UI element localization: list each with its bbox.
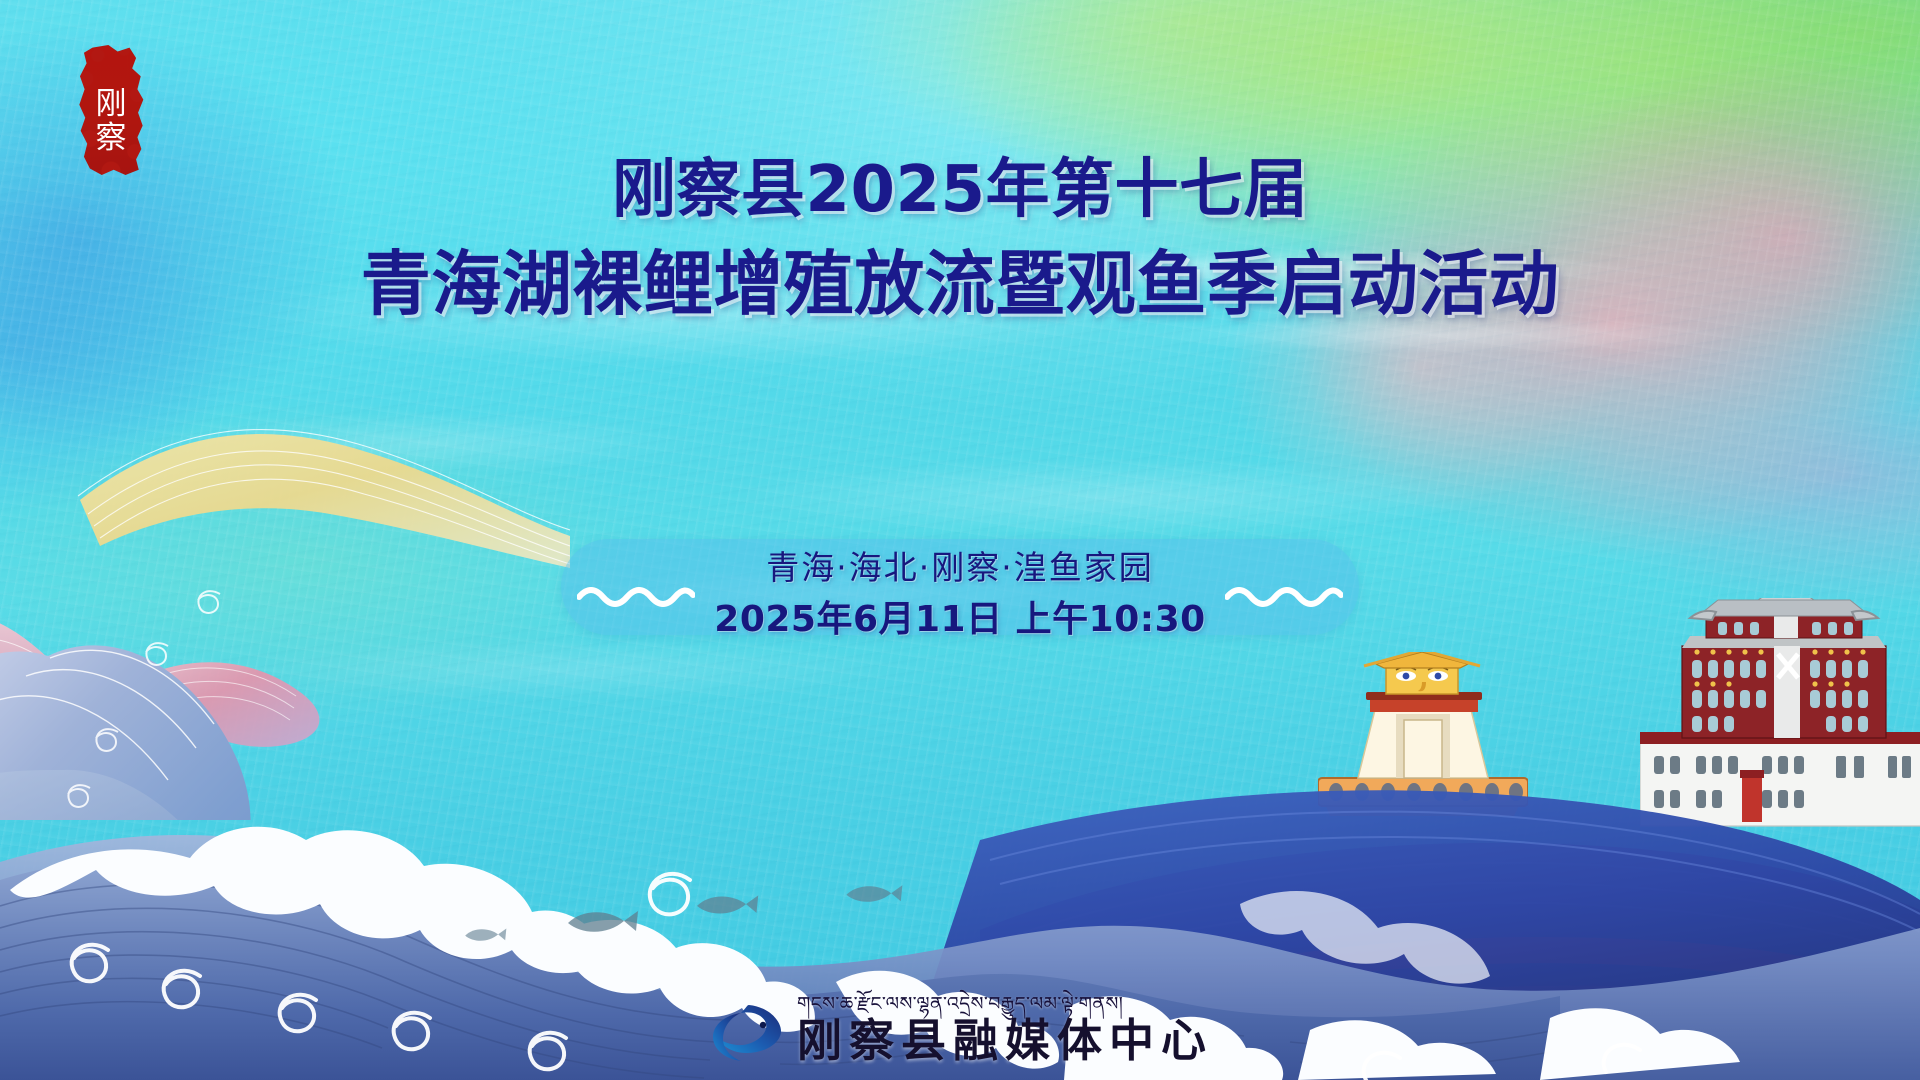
fish-logo-eye — [760, 1022, 766, 1028]
fish-logo-body — [719, 1005, 781, 1053]
footer-chinese: 刚察县融媒体中心 — [797, 1016, 1213, 1066]
footer-tibetan: གངས་ཆ་རྫོང་ལས་ལྷན་འདྲེས་བརྒྱུད་ལམ་ལྟེ་གན… — [797, 995, 1123, 1014]
seal-char-top: 刚 — [96, 89, 127, 121]
title-line-1: 刚察县2025年第十七届 — [0, 150, 1920, 231]
small-fish-icon — [560, 905, 640, 939]
subtitle-location: 青海·海北·刚察·湟鱼家园 — [0, 545, 1920, 592]
subtitle-text-block: 青海·海北·刚察·湟鱼家园 2025年6月11日 上午10:30 — [0, 545, 1920, 645]
poster-title: 刚察县2025年第十七届 青海湖裸鲤增殖放流暨观鱼季启动活动 — [0, 150, 1920, 330]
fish-logo-swirl — [713, 1013, 741, 1061]
small-fish-icon — [690, 890, 760, 920]
event-poster: 刚 察 — [0, 0, 1920, 1080]
title-line-2: 青海湖裸鲤增殖放流暨观鱼季启动活动 — [0, 239, 1920, 330]
small-fish-icon — [840, 880, 904, 908]
subtitle-datetime: 2025年6月11日 上午10:30 — [0, 594, 1920, 645]
fish-logo-icon — [707, 995, 783, 1065]
small-fish-icon — [460, 925, 508, 945]
footer-logo: གངས་ཆ་རྫོང་ལས་ལྷན་འདྲེས་བརྒྱུད་ལམ་ལྟེ་གན… — [0, 995, 1920, 1066]
footer-logo-text: གངས་ཆ་རྫོང་ལས་ལྷན་འདྲེས་བརྒྱུད་ལམ་ལྟེ་གན… — [797, 995, 1213, 1066]
